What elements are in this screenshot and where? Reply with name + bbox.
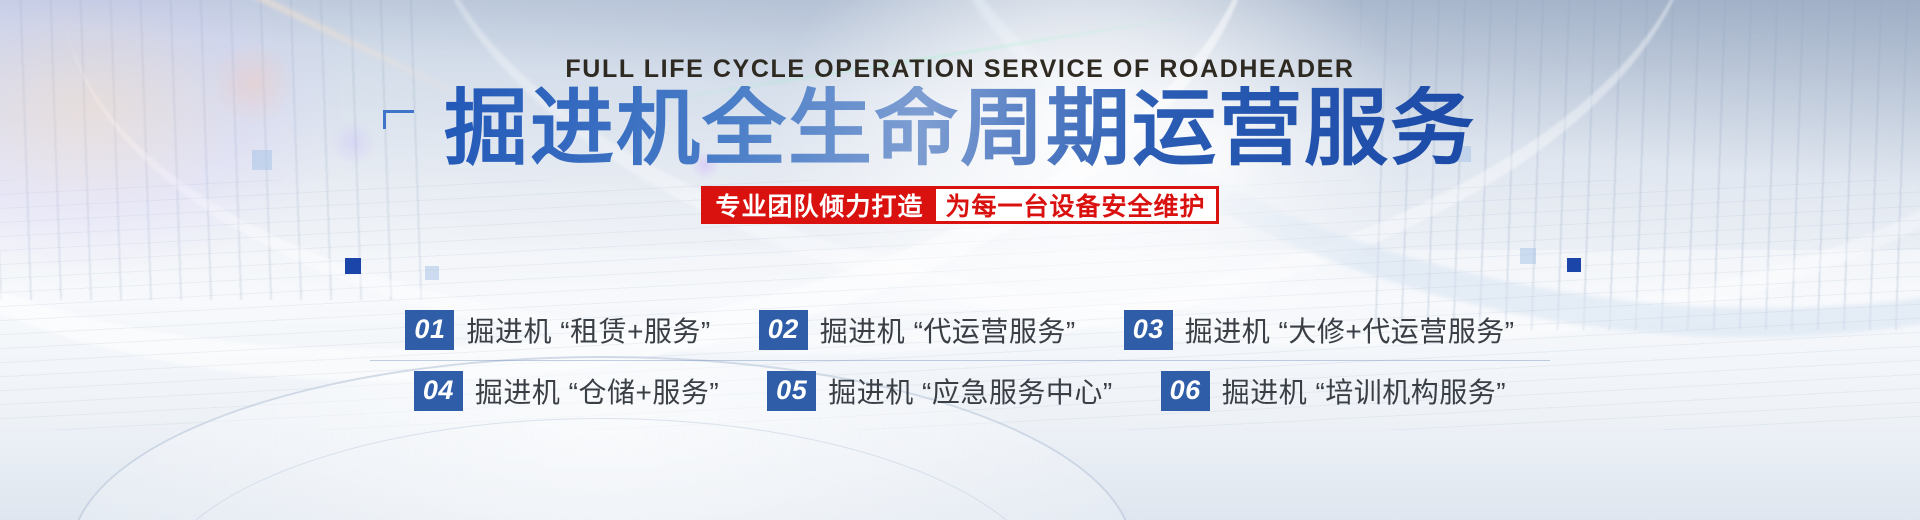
service-label: 掘进机 “应急服务中心” (828, 371, 1112, 411)
service-item-02[interactable]: 02 掘进机 “代运营服务” (759, 310, 1076, 350)
service-row-top: 01 掘进机 “租赁+服务” 02 掘进机 “代运营服务” 03 掘进机 “大修… (370, 300, 1550, 360)
service-item-05[interactable]: 05 掘进机 “应急服务中心” (767, 371, 1112, 411)
tagline-left: 专业团队倾力打造 (701, 186, 935, 224)
service-number-badge: 04 (414, 371, 463, 411)
page-title: 掘进机全生命周期运营服务 (0, 86, 1920, 170)
service-label: 掘进机 “代运营服务” (820, 310, 1076, 350)
service-item-06[interactable]: 06 掘进机 “培训机构服务” (1161, 371, 1506, 411)
banner-content: FULL LIFE CYCLE OPERATION SERVICE OF ROA… (0, 0, 1920, 520)
tagline-ribbon: 专业团队倾力打造 为每一台设备安全维护 (0, 186, 1920, 224)
service-item-03[interactable]: 03 掘进机 “大修+代运营服务” (1124, 310, 1515, 350)
service-label: 掘进机 “租赁+服务” (466, 310, 710, 350)
tagline-ribbon-inner: 专业团队倾力打造 为每一台设备安全维护 (701, 186, 1218, 224)
service-list: 01 掘进机 “租赁+服务” 02 掘进机 “代运营服务” 03 掘进机 “大修… (370, 300, 1550, 421)
service-item-01[interactable]: 01 掘进机 “租赁+服务” (405, 310, 710, 350)
roadheader-service-banner: FULL LIFE CYCLE OPERATION SERVICE OF ROA… (0, 0, 1920, 520)
service-label: 掘进机 “培训机构服务” (1222, 371, 1506, 411)
service-number-badge: 03 (1124, 310, 1173, 350)
banner-eyebrow-text: FULL LIFE CYCLE OPERATION SERVICE OF ROA… (0, 55, 1920, 84)
tagline-right: 为每一台设备安全维护 (936, 189, 1216, 221)
service-label: 掘进机 “大修+代运营服务” (1185, 310, 1515, 350)
service-number-badge: 01 (405, 310, 454, 350)
service-number-badge: 06 (1161, 371, 1210, 411)
service-item-04[interactable]: 04 掘进机 “仓储+服务” (414, 371, 719, 411)
service-label: 掘进机 “仓储+服务” (475, 371, 719, 411)
service-row-bottom: 04 掘进机 “仓储+服务” 05 掘进机 “应急服务中心” 06 掘进机 “培… (370, 360, 1550, 421)
service-number-badge: 02 (759, 310, 808, 350)
service-number-badge: 05 (767, 371, 816, 411)
